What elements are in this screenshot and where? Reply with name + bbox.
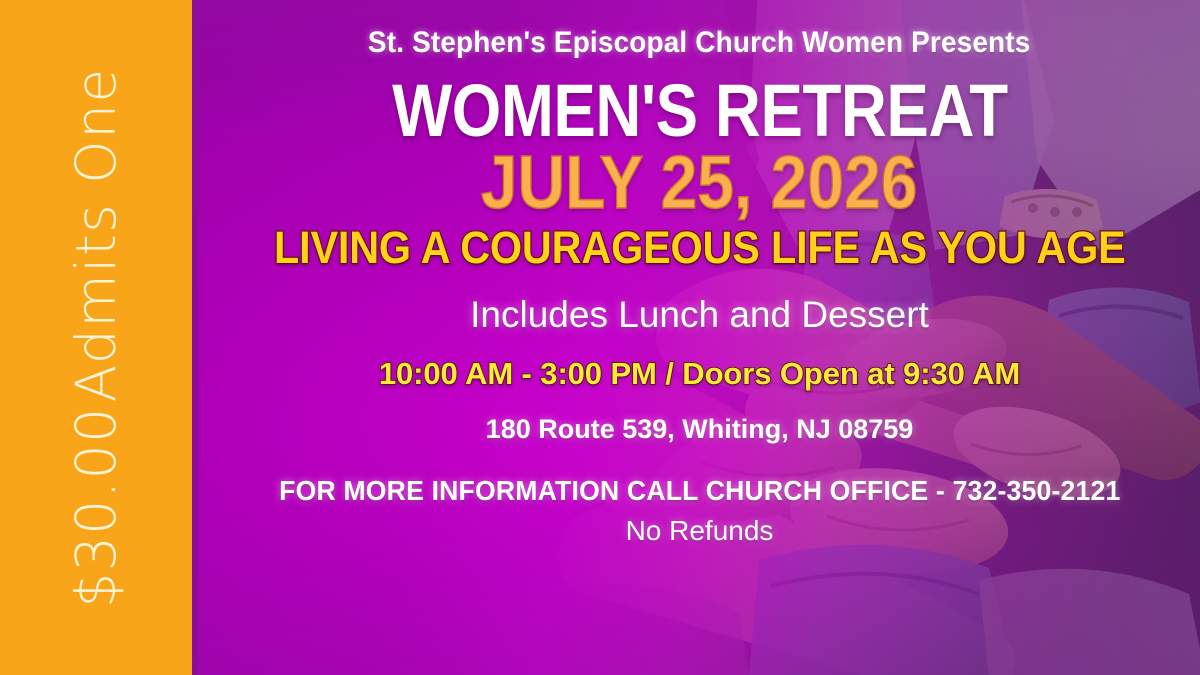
flyer-content: St. Stephen's Episcopal Church Women Pre… xyxy=(199,0,1200,675)
event-address: 180 Route 539, Whiting, NJ 08759 xyxy=(486,414,914,445)
refund-policy: No Refunds xyxy=(626,515,774,547)
event-title: WOMEN'S RETREAT xyxy=(392,73,1008,148)
ticket-price-label: $30.00 xyxy=(69,406,124,607)
stub-divider xyxy=(192,0,199,675)
presenter-line: St. Stephen's Episcopal Church Women Pre… xyxy=(368,26,1031,61)
event-time: 10:00 AM - 3:00 PM / Doors Open at 9:30 … xyxy=(379,356,1020,392)
event-date: JULY 25, 2026 xyxy=(481,144,918,221)
ticket-stub-text-group: Admits One $30.00 xyxy=(0,0,192,675)
event-tagline: LIVING A COURAGEOUS LIFE AS YOU AGE xyxy=(274,224,1126,271)
admits-one-label: Admits One xyxy=(69,67,124,402)
event-ticket-flyer: Admits One $30.00 St. Stephen's Episcopa… xyxy=(0,0,1200,675)
includes-line: Includes Lunch and Dessert xyxy=(470,294,929,336)
ticket-stub: Admits One $30.00 xyxy=(0,0,192,675)
contact-info: FOR MORE INFORMATION CALL CHURCH OFFICE … xyxy=(279,475,1120,507)
